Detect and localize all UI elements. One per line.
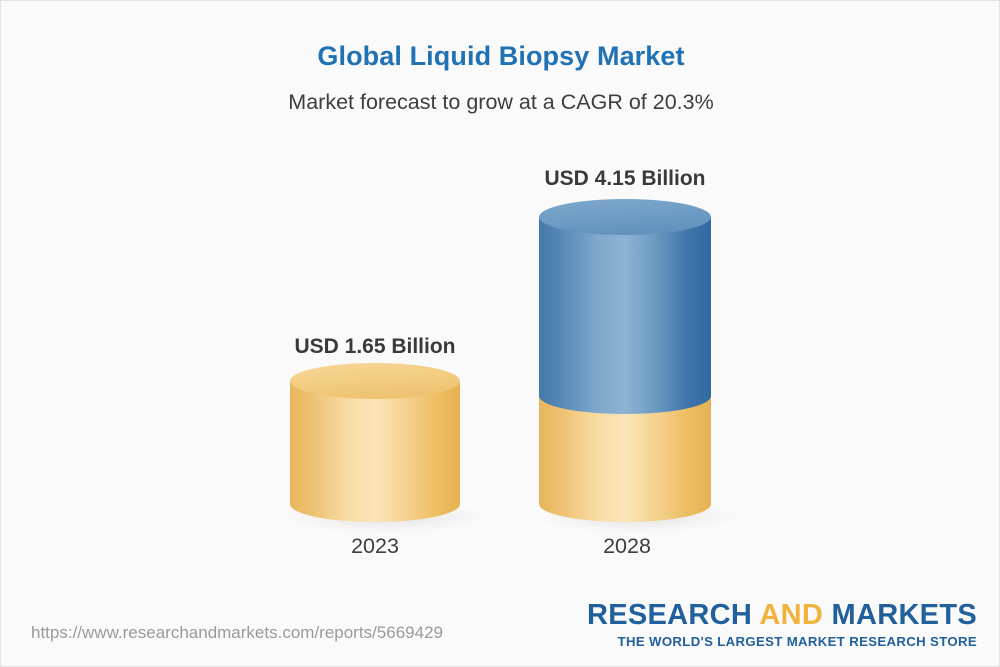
source-url[interactable]: https://www.researchandmarkets.com/repor… [31,623,443,643]
brand-word-and: AND [759,599,831,631]
bar-2028-growth-segment [539,217,711,414]
bar-2023-body [290,381,460,522]
chart-plot-area: USD 1.65 Billion USD 4.15 Billion 2023 2… [1,1,1000,601]
chart-infographic: Global Liquid Biopsy Market Market forec… [0,0,1000,667]
brand-word-research: RESEARCH [587,599,759,631]
brand-wordmark: RESEARCH AND MARKETS [587,601,977,630]
bar-2028[interactable] [539,199,711,522]
category-label-2028: 2028 [547,534,707,559]
value-label-2023: USD 1.65 Billion [255,335,495,359]
value-label-2028: USD 4.15 Billion [505,167,745,191]
brand-word-markets: MARKETS [832,599,978,631]
cylinder-chart-svg [1,1,1000,601]
bar-2028-top-cap [539,199,711,235]
bar-2028-base-segment [539,396,711,522]
brand-logo[interactable]: RESEARCH AND MARKETS THE WORLD'S LARGEST… [587,601,977,648]
category-label-2023: 2023 [295,534,455,559]
bar-2023-top-cap [290,363,460,399]
brand-tagline: THE WORLD'S LARGEST MARKET RESEARCH STOR… [587,635,977,648]
bar-2023[interactable] [290,363,460,522]
